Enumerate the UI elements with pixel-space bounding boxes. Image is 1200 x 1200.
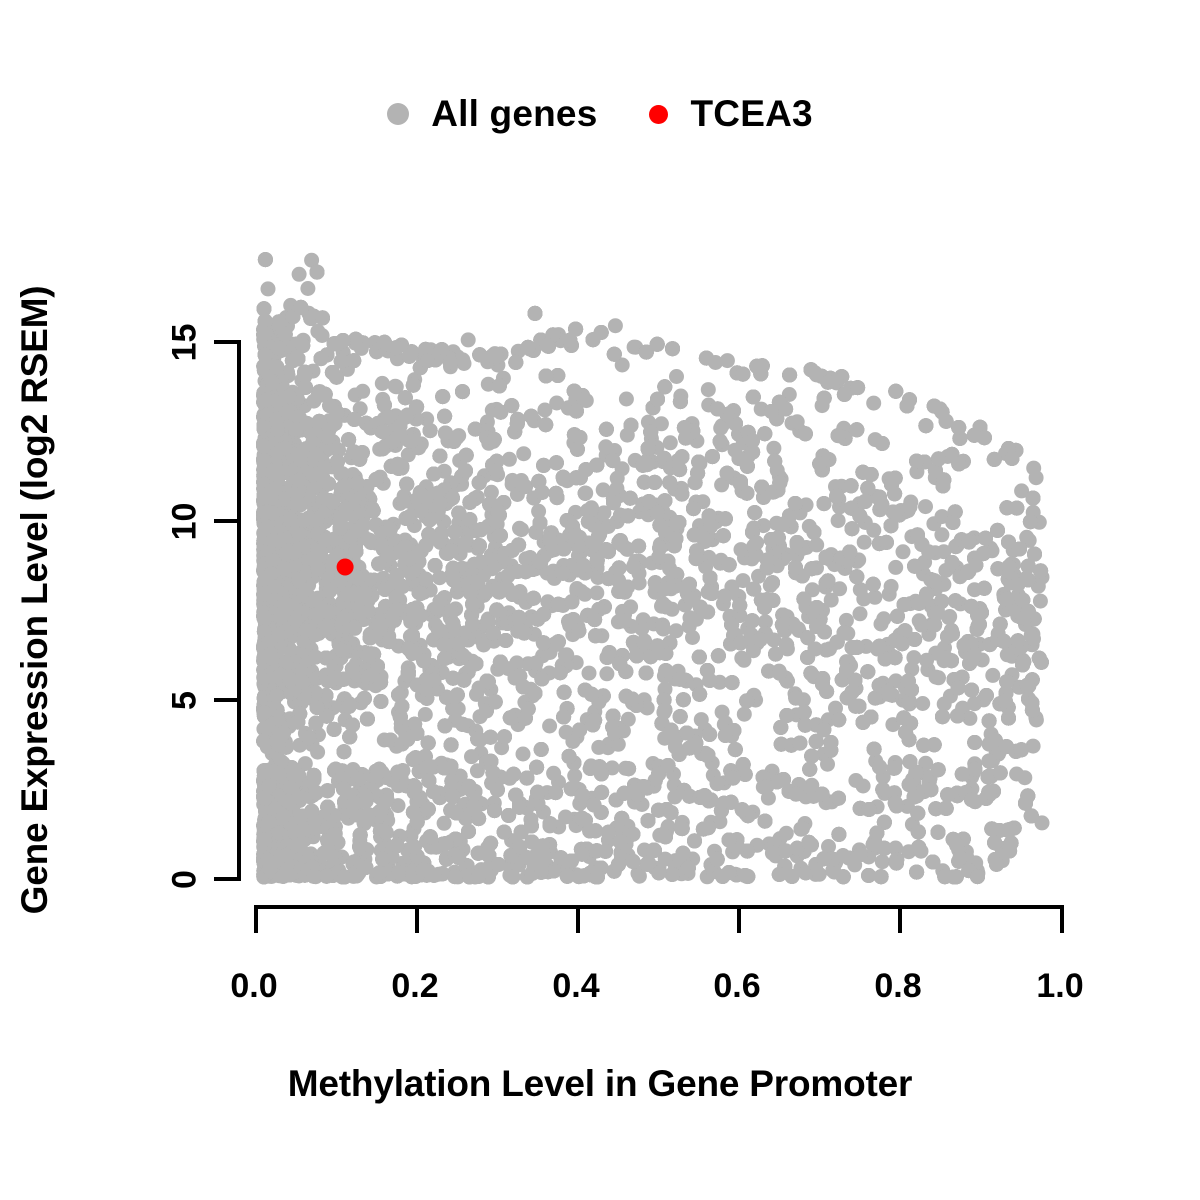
x-tick-label-1.0: 1.0 (1010, 967, 1110, 1006)
x-tick-label-0.4: 0.4 (526, 967, 626, 1006)
y-axis-title: Gene Expression Level (log2 RSEM) (14, 286, 56, 915)
x-axis-spine (254, 905, 1064, 909)
x-tick-0.8 (898, 905, 902, 933)
chart-legend: All genes TCEA3 (0, 86, 1200, 142)
plot-area (254, 260, 1060, 877)
y-tick-label-5: 5 (166, 671, 205, 731)
y-tick-15 (214, 340, 241, 344)
y-tick-label-10: 10 (166, 492, 205, 552)
series-all-genes (256, 252, 1049, 884)
y-axis-spine (237, 340, 241, 881)
legend-label-all-genes: All genes (431, 93, 597, 135)
legend-marker-tcea3-icon (649, 105, 668, 124)
x-tick-label-0.8: 0.8 (848, 967, 948, 1006)
legend-label-tcea3: TCEA3 (690, 93, 812, 135)
x-tick-0.4 (576, 905, 580, 933)
x-axis-title: Methylation Level in Gene Promoter (0, 1063, 1200, 1105)
legend-marker-all-genes-icon (387, 103, 409, 125)
y-tick-label-15: 15 (166, 313, 205, 373)
scatter-plot-figure: All genes TCEA3 15 10 5 0 0.0 (0, 0, 1200, 1200)
x-tick-label-0.2: 0.2 (365, 967, 465, 1006)
y-tick-label-0: 0 (166, 850, 205, 910)
y-axis-title-wrap: Gene Expression Level (log2 RSEM) (0, 0, 70, 1200)
series-tcea3 (337, 559, 354, 576)
y-tick-10 (214, 519, 241, 523)
x-tick-label-0.0: 0.0 (204, 967, 304, 1006)
y-tick-5 (214, 698, 241, 702)
y-tick-0 (214, 877, 241, 881)
legend-entry-all-genes: All genes (387, 93, 597, 135)
x-tick-label-0.6: 0.6 (687, 967, 787, 1006)
data-points-layer (254, 260, 1060, 877)
x-tick-1.0 (1060, 905, 1064, 933)
x-tick-0.6 (737, 905, 741, 933)
x-tick-0.0 (254, 905, 258, 933)
legend-entry-tcea3: TCEA3 (649, 93, 812, 135)
x-tick-0.2 (415, 905, 419, 933)
